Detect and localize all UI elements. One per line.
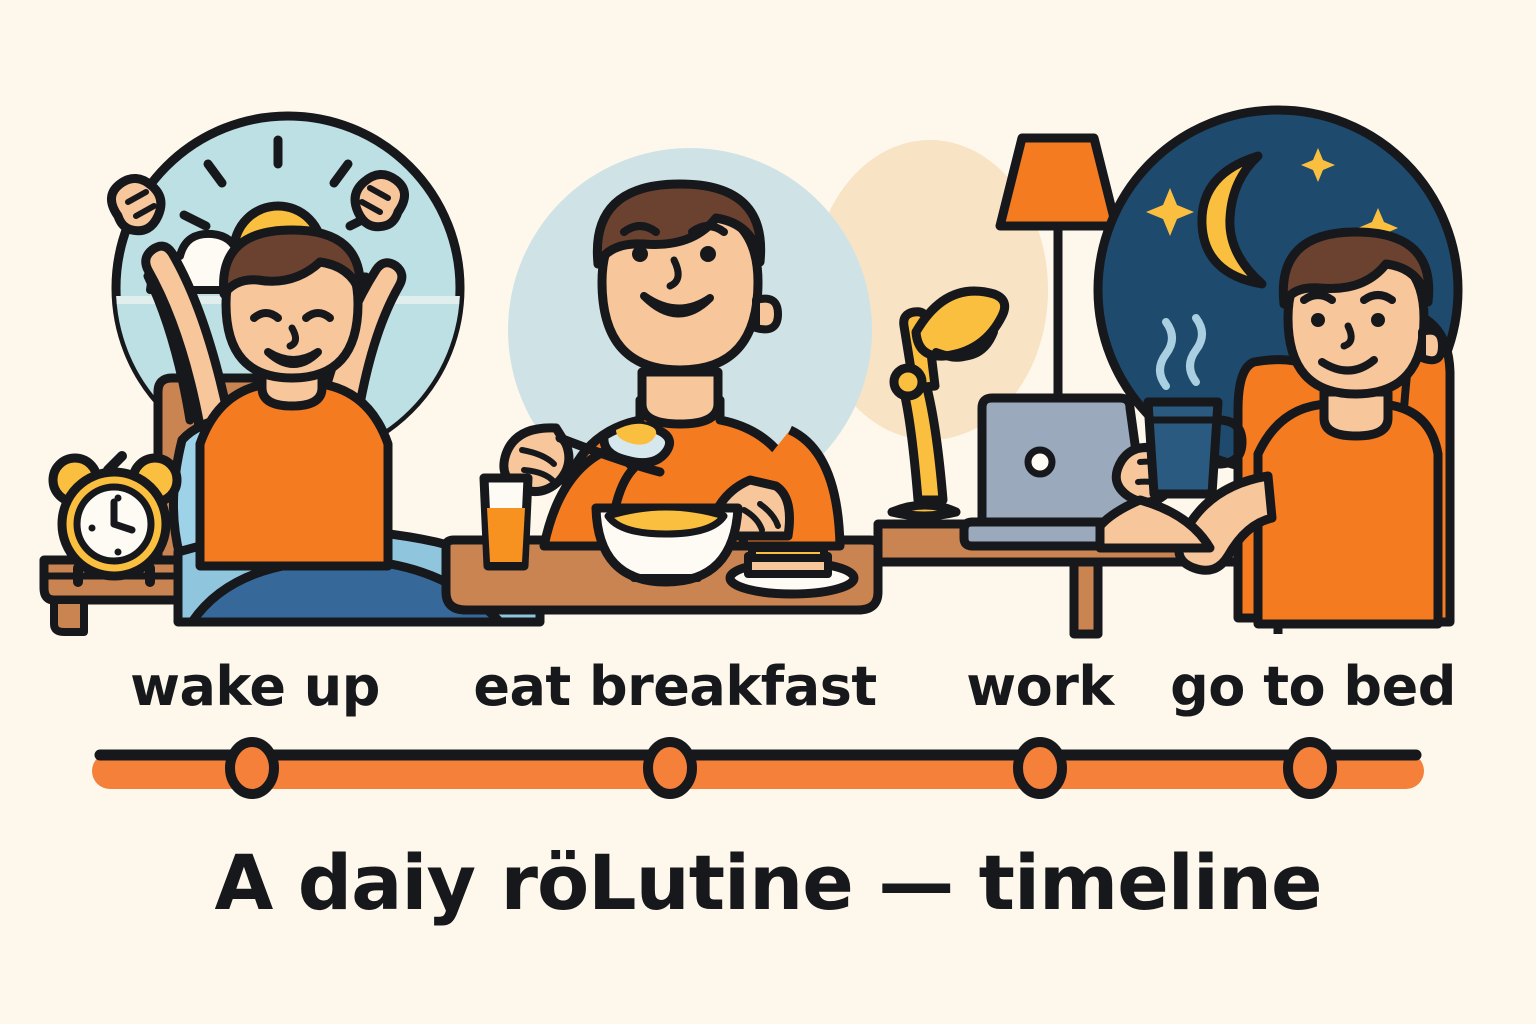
timeline-label-eat-breakfast: eat breakfast <box>473 655 876 718</box>
fist-right <box>355 174 404 226</box>
timeline-dot[interactable] <box>648 742 692 794</box>
timeline-dot[interactable] <box>1288 742 1332 794</box>
timeline <box>92 742 1424 794</box>
page-title: A daiy röLutine — timeline <box>214 838 1321 927</box>
juice-glass <box>484 478 528 566</box>
illustration-canvas: wake up eat breakfast work go to bed A d… <box>0 0 1536 1024</box>
timeline-dot[interactable] <box>1018 742 1062 794</box>
timeline-label-go-to-bed: go to bed <box>1170 655 1456 718</box>
timeline-bar[interactable] <box>92 753 1424 789</box>
timeline-dot[interactable] <box>230 742 274 794</box>
timeline-label-work: work <box>966 655 1114 718</box>
scene-go-to-bed <box>1098 110 1458 624</box>
cereal-bowl <box>596 507 738 582</box>
fist-left <box>111 178 160 230</box>
timeline-label-wake-up: wake up <box>130 655 380 718</box>
